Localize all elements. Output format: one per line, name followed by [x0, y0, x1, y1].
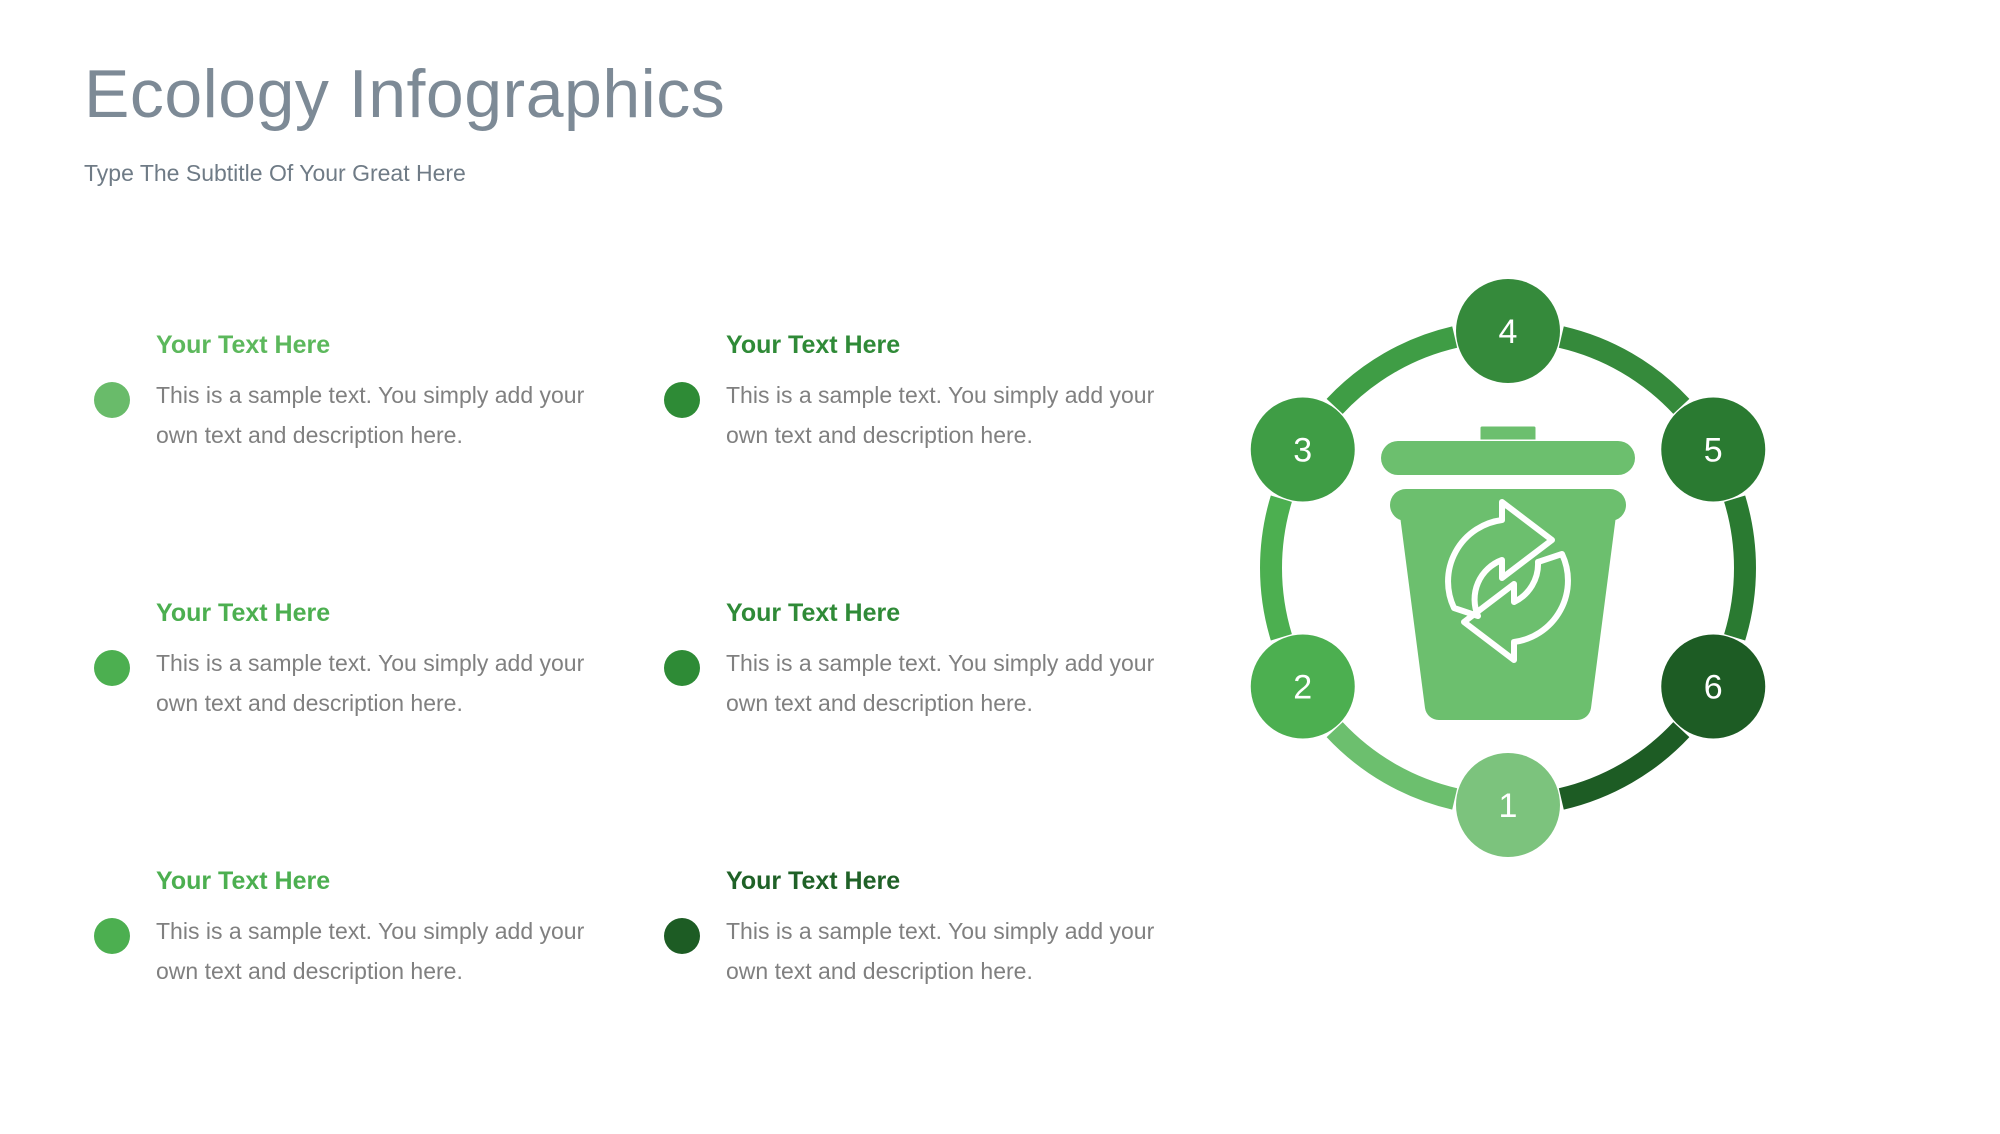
item-description: This is a sample text. You simply add yo… — [156, 912, 626, 991]
item-title: Your Text Here — [726, 866, 1224, 912]
node-label: 4 — [1499, 313, 1518, 351]
node-label: 6 — [1704, 669, 1723, 707]
bin-handle — [1476, 422, 1540, 444]
list-item[interactable]: Your Text Here This is a sample text. Yo… — [84, 598, 654, 866]
item-title: Your Text Here — [726, 330, 1224, 376]
bullet-icon — [94, 918, 130, 954]
item-title: Your Text Here — [156, 330, 654, 376]
node-label: 2 — [1293, 669, 1312, 707]
item-description: This is a sample text. You simply add yo… — [156, 376, 626, 455]
list-item[interactable]: Your Text Here This is a sample text. Yo… — [84, 330, 654, 598]
connector-arc — [1271, 499, 1281, 638]
diagram-node-6[interactable]: 6 — [1661, 635, 1765, 739]
item-description: This is a sample text. You simply add yo… — [726, 644, 1196, 723]
connector-arc — [1335, 730, 1455, 799]
bullet-icon — [664, 650, 700, 686]
item-description: This is a sample text. You simply add yo… — [726, 376, 1196, 455]
diagram-node-3[interactable]: 3 — [1251, 398, 1355, 502]
bullet-icon — [94, 382, 130, 418]
slide-header: Ecology Infographics Type The Subtitle O… — [84, 56, 1084, 187]
node-label: 3 — [1293, 432, 1312, 470]
diagram-node-5[interactable]: 5 — [1661, 398, 1765, 502]
page-subtitle: Type The Subtitle Of Your Great Here — [84, 132, 1084, 187]
item-title: Your Text Here — [156, 598, 654, 644]
item-description: This is a sample text. You simply add yo… — [156, 644, 626, 723]
node-label: 1 — [1499, 787, 1518, 825]
connector-arc — [1561, 730, 1681, 799]
circular-process-diagram: 123456 — [1228, 268, 1788, 848]
diagram-node-1[interactable]: 1 — [1456, 753, 1560, 857]
recycle-bin-icon — [1381, 422, 1635, 720]
bin-lid — [1381, 441, 1635, 475]
connector-arc — [1735, 499, 1745, 638]
item-title: Your Text Here — [156, 866, 654, 912]
diagram-node-4[interactable]: 4 — [1456, 279, 1560, 383]
list-item[interactable]: Your Text Here This is a sample text. Yo… — [84, 866, 654, 1134]
item-title: Your Text Here — [726, 598, 1224, 644]
text-items-grid: Your Text Here This is a sample text. Yo… — [84, 330, 1214, 1134]
bullet-icon — [664, 918, 700, 954]
page-title: Ecology Infographics — [84, 56, 1084, 132]
bullet-icon — [94, 650, 130, 686]
connector-arc — [1335, 337, 1455, 406]
connector-arc — [1561, 337, 1681, 406]
bullet-icon — [664, 382, 700, 418]
list-item[interactable]: Your Text Here This is a sample text. Yo… — [654, 330, 1224, 598]
node-label: 5 — [1704, 432, 1723, 470]
item-description: This is a sample text. You simply add yo… — [726, 912, 1196, 991]
list-item[interactable]: Your Text Here This is a sample text. Yo… — [654, 866, 1224, 1134]
list-item[interactable]: Your Text Here This is a sample text. Yo… — [654, 598, 1224, 866]
diagram-node-2[interactable]: 2 — [1251, 635, 1355, 739]
bin-body — [1399, 508, 1617, 720]
